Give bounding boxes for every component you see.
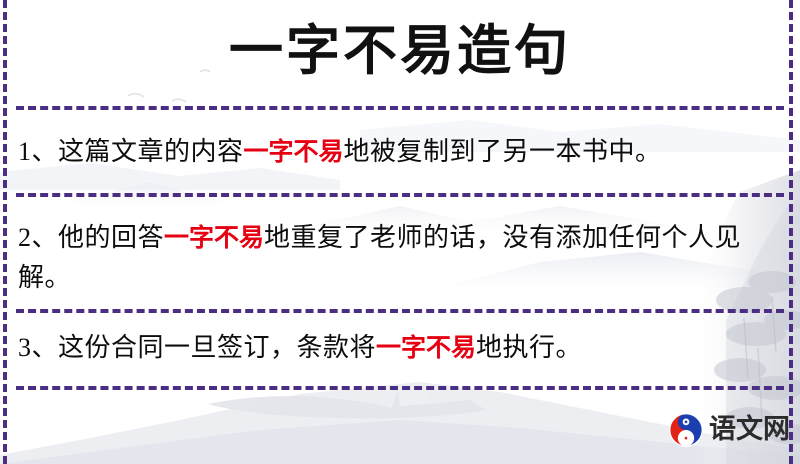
sentence-item-2: 2、他的回答一字不易地重复了老师的话，没有添加任何个人见解。 (18, 218, 784, 298)
divider-line-1 (16, 106, 784, 110)
yinyang-circle-icon (668, 412, 704, 448)
slide-content: 一字不易造句 1、这篇文章的内容一字不易地被复制到了另一本书中。 2、他的回答一… (0, 0, 800, 464)
divider-line-4 (16, 386, 784, 390)
page-title: 一字不易造句 (0, 16, 800, 86)
sentence-2-text-before: 他的回答 (58, 223, 164, 252)
sentence-3-number: 3、 (18, 333, 58, 362)
sentence-1-number: 1、 (18, 137, 58, 166)
sentence-item-3: 3、这份合同一旦签订，条款将一字不易地执行。 (18, 328, 784, 368)
sentence-1-text-after: 地被复制到了另一本书中。 (344, 137, 662, 166)
slide-page: 一字不易造句 1、这篇文章的内容一字不易地被复制到了另一本书中。 2、他的回答一… (0, 0, 800, 464)
sentence-item-1: 1、这篇文章的内容一字不易地被复制到了另一本书中。 (18, 132, 784, 172)
sentence-3-keyword: 一字不易 (376, 333, 476, 362)
sentence-3-text-before: 这份合同一旦签订，条款将 (58, 333, 376, 362)
sentence-1-keyword: 一字不易 (244, 137, 344, 166)
sentence-2-number: 2、 (18, 223, 58, 252)
sentence-3-text-after: 地执行。 (476, 333, 582, 362)
site-logo[interactable]: 语文网 (668, 412, 790, 448)
site-logo-text: 语文网 (709, 415, 790, 445)
divider-line-3 (16, 309, 784, 313)
sentence-1-text-before: 这篇文章的内容 (58, 137, 244, 166)
sentence-2-keyword: 一字不易 (164, 223, 264, 252)
divider-line-2 (16, 193, 784, 197)
